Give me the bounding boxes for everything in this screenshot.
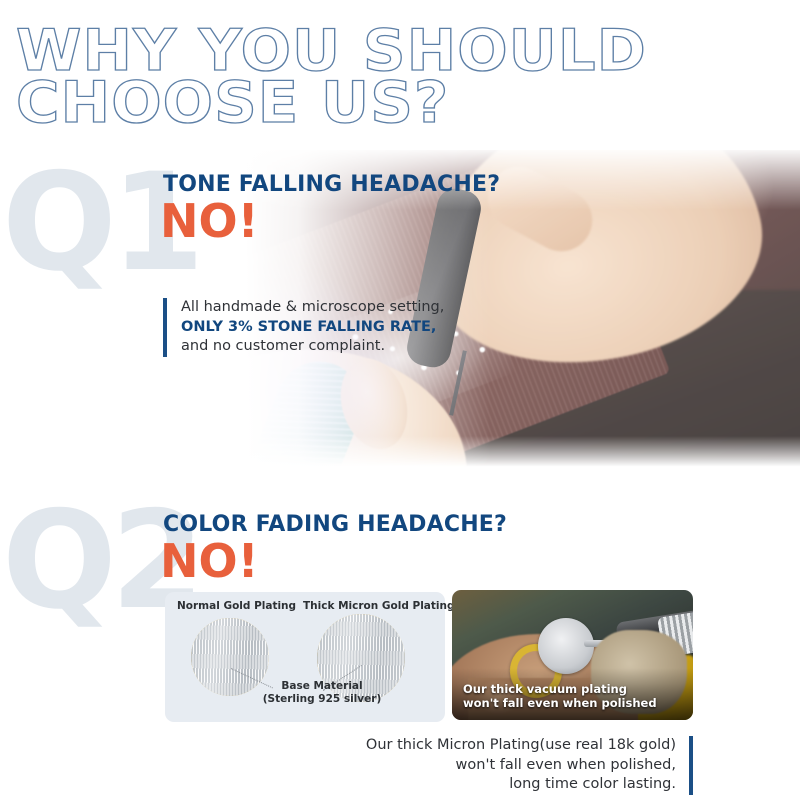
bottom-note: Our thick Micron Plating(use real 18k go…: [366, 736, 693, 795]
diagram-label-thick: Thick Micron Gold Plating: [303, 600, 455, 612]
photo-caption-line-2: won't fall even when polished: [463, 696, 657, 710]
headline-line-1: WHY YOU SHOULD: [16, 26, 800, 76]
diagram-label-normal: Normal Gold Plating: [177, 600, 296, 612]
page-title: WHY YOU SHOULD CHOOSE US?: [16, 26, 776, 128]
photo-caption-line-1: Our thick vacuum plating: [463, 682, 657, 696]
q1-quote: All handmade & microscope setting, ONLY …: [163, 298, 444, 357]
base-material-line-2: (Sterling 925 silver): [227, 693, 417, 706]
bottom-note-line-1: Our thick Micron Plating(use real 18k go…: [366, 736, 676, 756]
gold-plating-diagram: Normal Gold Plating Thick Micron Gold Pl…: [165, 592, 445, 722]
q1-quote-line-1: All handmade & microscope setting,: [181, 298, 444, 318]
infographic-page: WHY YOU SHOULD CHOOSE US? Q1 TONE FALLIN…: [0, 0, 800, 800]
photo-caption: Our thick vacuum plating won't fall even…: [463, 682, 657, 710]
bottom-note-line-2: won't fall even when polished,: [366, 756, 676, 776]
q2-answer: NO!: [160, 538, 259, 584]
polishing-photo: Our thick vacuum plating won't fall even…: [452, 590, 693, 720]
photo-fade-bottom: [160, 436, 800, 470]
q1-quote-line-2: ONLY 3% STONE FALLING RATE,: [181, 318, 444, 338]
q1-quote-line-3: and no customer complaint.: [181, 337, 444, 357]
base-material-line-1: Base Material: [227, 680, 417, 693]
diagram-base-material-label: Base Material (Sterling 925 silver): [227, 680, 417, 705]
bottom-note-line-3: long time color lasting.: [366, 775, 676, 795]
headline-line-2: CHOOSE US?: [16, 78, 800, 128]
q1-answer: NO!: [160, 198, 259, 244]
